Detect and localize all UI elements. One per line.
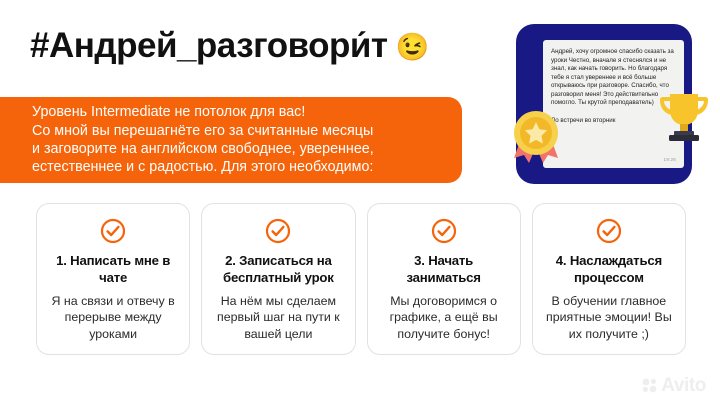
step-card-body: Мы договоримся о графике, а ещё вы получ… — [376, 293, 512, 342]
banner-line: Уровень Intermediate не потолок для вас! — [32, 103, 446, 121]
poster-canvas: #Андрей_разговори́т 😉 Уровень Intermedia… — [0, 0, 720, 405]
check-circle-icon — [100, 218, 126, 244]
winking-face-emoji: 😉 — [396, 34, 430, 61]
chat-message-time: 19:26 — [664, 157, 677, 162]
step-card-title: 4. Наслаждаться процессом — [541, 253, 677, 286]
page-title: #Андрей_разговори́т 😉 — [30, 28, 429, 63]
check-circle-icon — [265, 218, 291, 244]
step-card-title: 1. Написать мне в чате — [45, 253, 181, 286]
step-card[interactable]: 1. Написать мне в чате Я на связи и отве… — [36, 203, 190, 355]
avito-watermark-label: Avito — [661, 376, 706, 395]
promo-banner: Уровень Intermediate не потолок для вас!… — [0, 97, 462, 183]
step-card-body: На нём мы сделаем первый шаг на пути к в… — [210, 293, 346, 342]
check-circle-icon — [596, 218, 622, 244]
banner-line: и заговорите на английском свободнее, ув… — [32, 140, 446, 158]
banner-line: Со мной вы перешагнёте его за считанные … — [32, 122, 446, 140]
step-card-title: 2. Записаться на бесплатный урок — [210, 253, 346, 286]
step-card[interactable]: 3. Начать заниматься Мы договоримся о гр… — [367, 203, 521, 355]
step-card-body: В обучении главное приятные эмоции! Вы и… — [541, 293, 677, 342]
step-card-body: Я на связи и отвечу в перерыве между уро… — [45, 293, 181, 342]
steps-row: 1. Написать мне в чате Я на связи и отве… — [36, 203, 686, 355]
check-circle-icon — [431, 218, 457, 244]
avito-logo-icon — [642, 378, 657, 393]
medal-badge-icon — [505, 106, 567, 168]
avito-watermark: Avito — [642, 376, 706, 395]
trophy-icon — [655, 88, 713, 146]
step-card-title: 3. Начать заниматься — [376, 253, 512, 286]
banner-line: естественнее и с радостью. Для этого нео… — [32, 158, 446, 176]
step-card[interactable]: 4. Наслаждаться процессом В обучении гла… — [532, 203, 686, 355]
page-title-text: #Андрей_разговори́т — [30, 28, 388, 63]
step-card[interactable]: 2. Записаться на бесплатный урок На нём … — [201, 203, 355, 355]
